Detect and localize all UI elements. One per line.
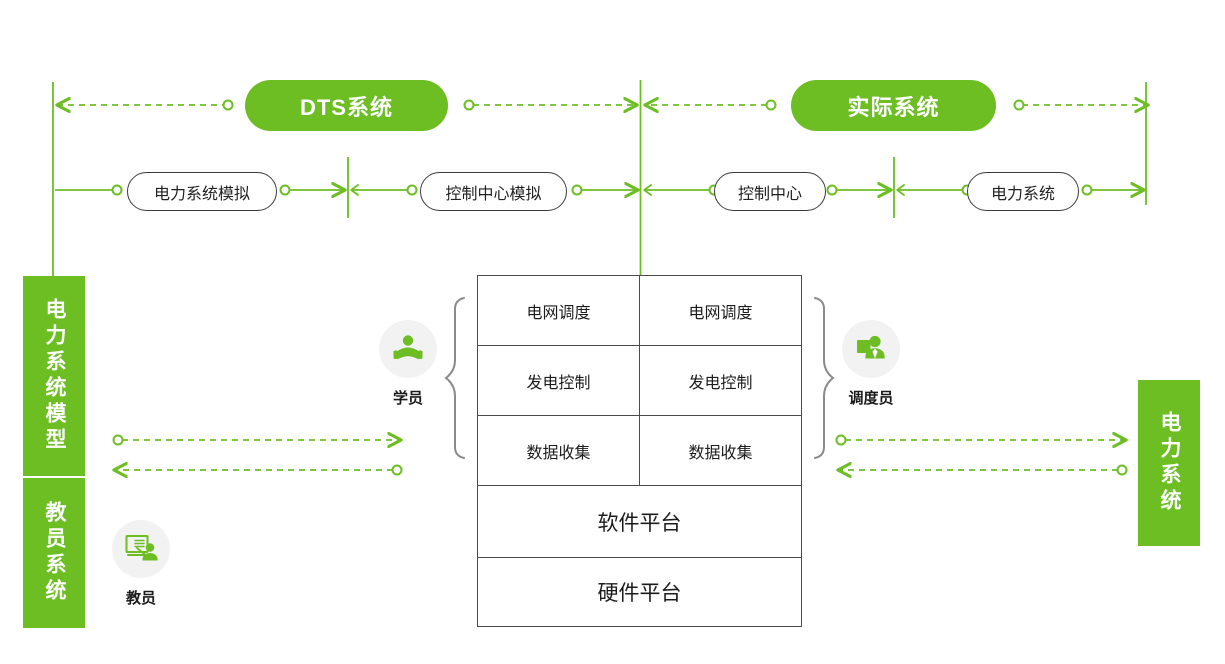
capsule-control-sim-label: 控制中心模拟: [445, 180, 541, 204]
node-dot-powersim-left: [113, 186, 122, 195]
stack-cell-label: 数据收集: [688, 439, 752, 463]
header-pill-actual-label: 实际系统: [847, 90, 939, 122]
sidebar-cell-instructor-system-label: 教员系统: [39, 501, 69, 605]
arrowhead-into-divider-3: [897, 185, 904, 195]
capsule-control-center-label: 控制中心: [738, 180, 802, 204]
node-dot-actual-right: [1015, 101, 1024, 110]
node-dot-dts-right: [465, 101, 474, 110]
role-instructor-label: 教员: [126, 587, 156, 608]
capsule-control-center[interactable]: 控制中心: [714, 172, 826, 211]
stack-cell-label: 数据收集: [526, 439, 590, 463]
node-dot-controlsim-right: [573, 186, 582, 195]
person-badge-icon: [854, 332, 888, 366]
node-dot-control-right: [828, 186, 837, 195]
stack-row-software-platform[interactable]: 软件平台: [478, 486, 801, 558]
arrowhead-into-divider-1: [351, 185, 358, 195]
stack-row-software-platform-label: 软件平台: [598, 507, 682, 537]
stack-cell-label: 电网调度: [526, 299, 590, 323]
stack-row-hardware-platform[interactable]: 硬件平台: [478, 558, 801, 626]
stack-cell-grid-dispatch-left[interactable]: 电网调度: [478, 276, 640, 345]
sidebar-right: 电力系统: [1138, 380, 1200, 546]
role-student[interactable]: 学员: [379, 320, 437, 408]
stack-cell-grid-dispatch-right[interactable]: 电网调度: [640, 276, 801, 345]
stack-cell-data-collect-right[interactable]: 数据收集: [640, 416, 801, 485]
sidebar-cell-power-system-label: 电力系统: [1154, 411, 1184, 515]
role-instructor[interactable]: 教员: [112, 520, 170, 608]
role-student-label: 学员: [393, 387, 423, 408]
node-dot-right-out: [837, 436, 846, 445]
node-dot-right-in: [1118, 466, 1127, 475]
stack-cell-label: 电网调度: [688, 299, 752, 323]
capsule-power-system-label: 电力系统: [991, 180, 1055, 204]
capsule-power-system[interactable]: 电力系统: [967, 172, 1079, 211]
header-pill-dts-label: DTS系统: [300, 90, 393, 122]
role-dispatcher-label: 调度员: [848, 387, 893, 408]
role-dispatcher-disc: [842, 320, 900, 378]
capsule-control-sim[interactable]: 控制中心模拟: [420, 172, 567, 211]
bracket-left: [446, 298, 464, 458]
bracket-right: [815, 298, 833, 458]
person-whiteboard-icon: [124, 532, 158, 566]
stack-cell-data-collect-left[interactable]: 数据收集: [478, 416, 640, 485]
role-dispatcher[interactable]: 调度员: [842, 320, 900, 408]
stack-cell-label: 发电控制: [526, 369, 590, 393]
stack-cell-gen-control-left[interactable]: 发电控制: [478, 346, 640, 415]
sidebar-left: 电力系统模型 教员系统: [23, 276, 85, 628]
stack-cell-gen-control-right[interactable]: 发电控制: [640, 346, 801, 415]
node-dot-controlsim-left: [408, 186, 417, 195]
header-pill-dts[interactable]: DTS系统: [245, 80, 448, 131]
node-dot-actual-left: [767, 101, 776, 110]
role-instructor-disc: [112, 520, 170, 578]
node-dot-dts-left: [224, 101, 233, 110]
table-row: 电网调度 电网调度: [478, 276, 801, 346]
sidebar-cell-power-model-label: 电力系统模型: [39, 298, 69, 454]
diagram-canvas: DTS系统 实际系统 电力系统模拟 控制中心模拟 控制中心 电力系统 电力系统模…: [0, 0, 1225, 664]
table-row: 数据收集 数据收集: [478, 416, 801, 486]
header-pill-actual[interactable]: 实际系统: [791, 80, 996, 131]
person-reading-book-icon: [391, 332, 425, 366]
node-dot-left-in: [393, 466, 402, 475]
sidebar-cell-power-system[interactable]: 电力系统: [1138, 380, 1200, 546]
stack-row-hardware-platform-label: 硬件平台: [598, 577, 682, 607]
capsule-power-sim-label: 电力系统模拟: [154, 180, 250, 204]
node-dot-left-out: [114, 436, 123, 445]
capsule-power-sim[interactable]: 电力系统模拟: [127, 172, 277, 211]
architecture-stack-table: 电网调度 电网调度 发电控制 发电控制 数据收集 数据收集 软件平台: [477, 275, 802, 627]
role-student-disc: [379, 320, 437, 378]
sidebar-cell-instructor-system[interactable]: 教员系统: [23, 476, 85, 628]
arrowhead-into-divider-2: [644, 185, 651, 195]
node-dot-powersim-right: [281, 186, 290, 195]
table-row: 发电控制 发电控制: [478, 346, 801, 416]
sidebar-cell-power-model[interactable]: 电力系统模型: [23, 276, 85, 476]
stack-cell-label: 发电控制: [688, 369, 752, 393]
node-dot-power-right: [1083, 186, 1092, 195]
